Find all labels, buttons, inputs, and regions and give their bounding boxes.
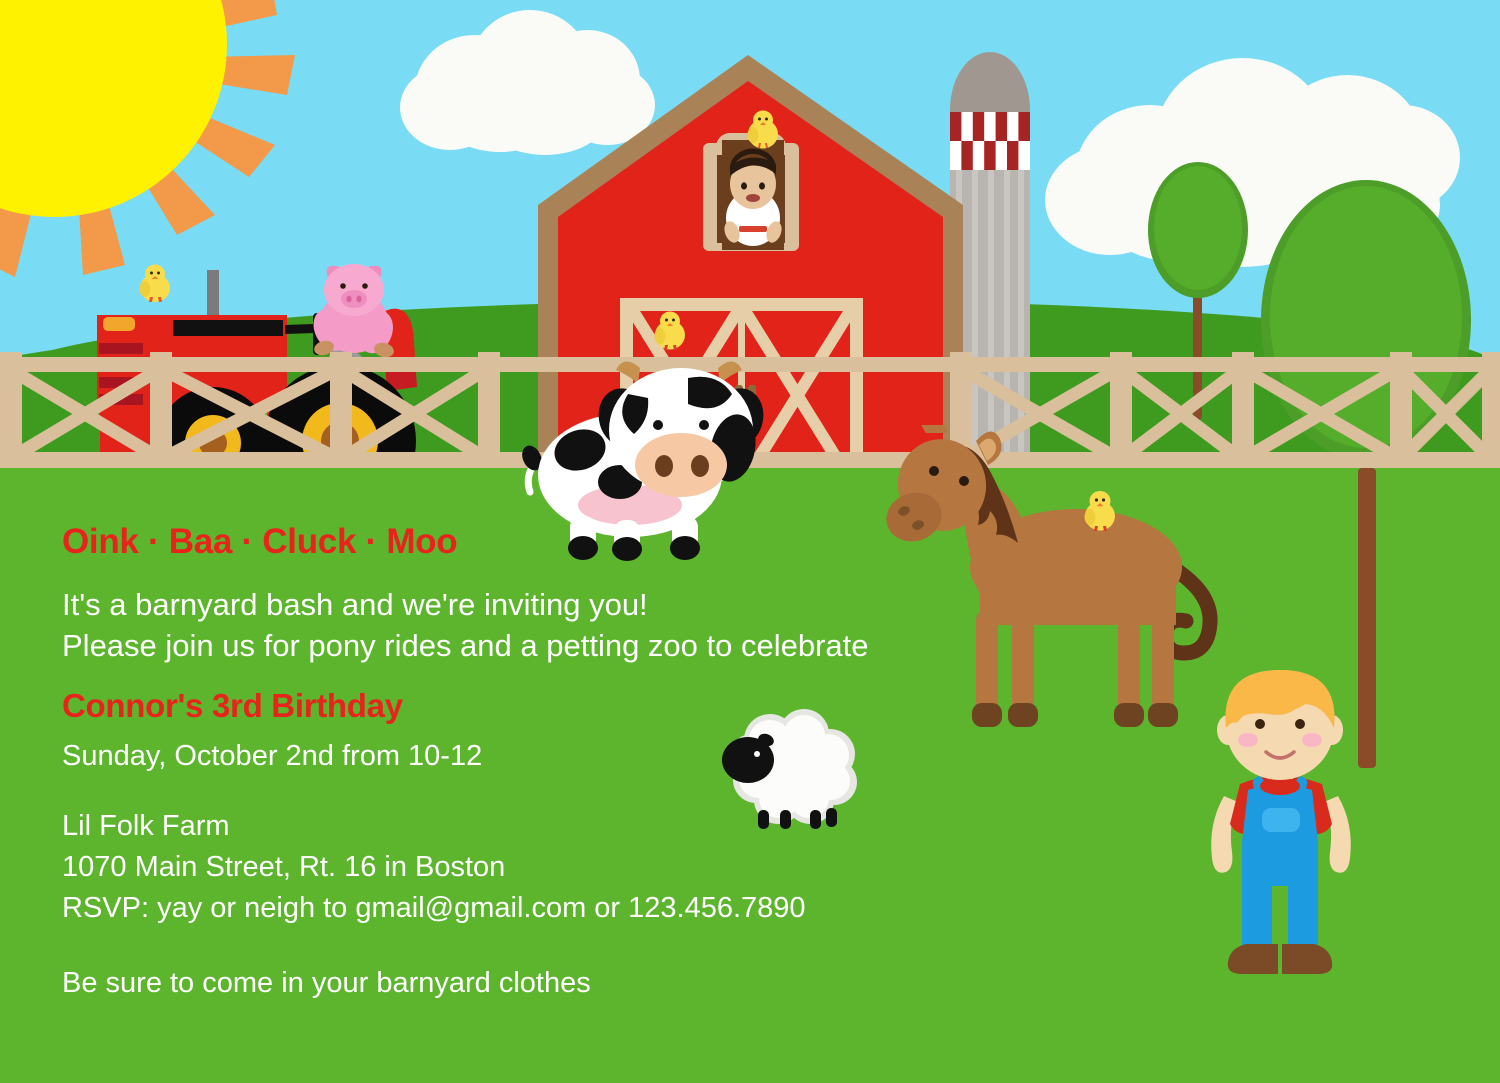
intro-line-2: Please join us for pony rides and a pett…	[62, 625, 942, 666]
birthday-title: Connor's 3rd Birthday	[62, 684, 942, 728]
venue-name: Lil Folk Farm	[62, 806, 942, 847]
intro-line-1: It's a barnyard bash and we're inviting …	[62, 584, 942, 625]
invitation-copy: Oink · Baa · Cluck · Moo It's a barnyard…	[62, 520, 942, 1004]
child-photo	[722, 140, 784, 250]
venue-address: 1070 Main Street, Rt. 16 in Boston	[62, 847, 942, 888]
chick-tractor-icon	[134, 260, 176, 306]
farm-boy	[1188, 668, 1373, 988]
dress-note: Be sure to come in your barnyard clothes	[62, 963, 942, 1004]
chick-barn-peak-icon	[741, 108, 785, 152]
pig	[298, 262, 408, 362]
rsvp-line: RSVP: yay or neigh to gmail@gmail.com or…	[62, 888, 942, 929]
date-time: Sunday, October 2nd from 10-12	[62, 736, 942, 776]
chick-horse-icon	[1078, 487, 1122, 535]
invitation-canvas: Oink · Baa · Cluck · Moo It's a barnyard…	[0, 0, 1500, 1083]
headline: Oink · Baa · Cluck · Moo	[62, 520, 942, 564]
